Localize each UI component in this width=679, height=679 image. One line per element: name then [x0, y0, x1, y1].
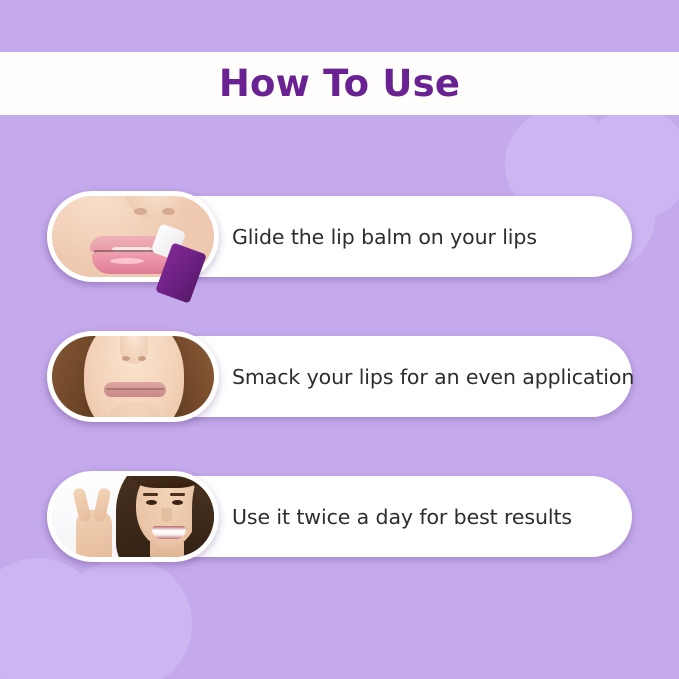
- woman-peace-sign-image: [52, 476, 214, 557]
- step-label: Use it twice a day for best results: [232, 476, 572, 557]
- list-item: Glide the lip balm on your lips: [0, 196, 679, 277]
- list-item: Use it twice a day for best results: [0, 476, 679, 557]
- step-thumbnail: [47, 331, 219, 422]
- how-to-use-poster: How To Use Glide the lip balm on your li…: [0, 0, 679, 679]
- page-title: How To Use: [219, 65, 460, 102]
- list-item: Smack your lips for an even application: [0, 336, 679, 417]
- header-band: How To Use: [0, 52, 679, 115]
- step-label: Smack your lips for an even application: [232, 336, 634, 417]
- step-thumbnail: [47, 191, 219, 282]
- woman-smacking-lips-image: [52, 336, 214, 417]
- step-label: Glide the lip balm on your lips: [232, 196, 537, 277]
- step-thumbnail: [47, 471, 219, 562]
- steps-list: Glide the lip balm on your lips: [0, 196, 679, 616]
